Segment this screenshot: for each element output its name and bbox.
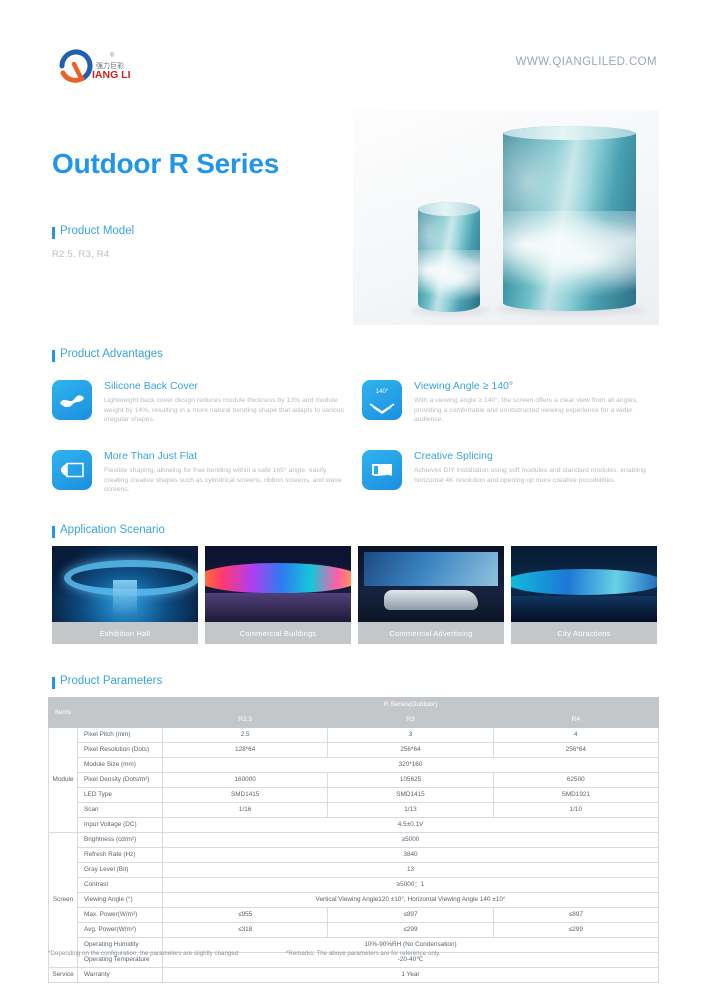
scenario-commercial-buildings: Commercial Buildings <box>205 546 351 644</box>
advantage-title: Viewing Angle ≥ 140° <box>414 380 662 393</box>
qiangli-logo: 强力巨彩 IANG LI ® <box>52 48 172 84</box>
header-column-r4: R4 <box>493 713 658 728</box>
row-value-r4: 1/10 <box>493 803 658 818</box>
advantage-title: More Than Just Flat <box>104 450 352 463</box>
cylinder-screen-small <box>418 202 480 312</box>
footnote-1: *Depending on the configuration, the par… <box>48 950 238 957</box>
advantage-text: Achieves DIY installation using soft mod… <box>414 466 662 485</box>
flexible-panel-icon <box>52 450 92 490</box>
table-row: Contrast≥5000：1 <box>49 878 659 893</box>
scenario-caption: City Attractions <box>511 622 657 644</box>
section-heading-application-scenario: Application Scenario <box>52 524 165 536</box>
row-value-all: 4.5±0.1V <box>163 818 659 833</box>
advantage-more-than-just-flat: More Than Just Flat Flexible shaping, al… <box>52 450 352 495</box>
row-label: Max. Power(W/m²) <box>78 908 163 923</box>
page-header: 强力巨彩 IANG LI ® WWW.QIANGLILED.COM <box>0 0 707 110</box>
header-column-r2-5: R2.5 <box>163 713 328 728</box>
row-value-r2-5: ≤318 <box>163 923 328 938</box>
row-label: Refresh Rate (Hz) <box>78 848 163 863</box>
row-value-r3: SMD1415 <box>328 788 493 803</box>
row-value-r4: 62500 <box>493 773 658 788</box>
table-header-row: ItemsR Series(Outdoor) <box>49 698 659 713</box>
row-group-module: Module <box>49 728 78 833</box>
row-label: Brightness (cd/m²) <box>78 833 163 848</box>
section-heading-product-advantages: Product Advantages <box>52 348 163 360</box>
scenario-commercial-advertising: Commercial Advertising <box>358 546 504 644</box>
row-label: Pixel Density (Dots/m²) <box>78 773 163 788</box>
row-label: Avg. Power(W/m²) <box>78 923 163 938</box>
row-value-all: 13 <box>163 863 659 878</box>
table-row: ServiceWarranty1 Year <box>49 968 659 983</box>
table-row: Input Voltage (DC)4.5±0.1V <box>49 818 659 833</box>
advantage-title: Creative Splicing <box>414 450 662 463</box>
scenario-caption: Exhibition Hall <box>52 622 198 644</box>
scenario-city-attractions: City Attractions <box>511 546 657 644</box>
advantage-text: Flexible shaping, allowing for free bend… <box>104 466 352 495</box>
row-value-r2-5: 2.5 <box>163 728 328 743</box>
table-row: Avg. Power(W/m²)≤318≤299≤299 <box>49 923 659 938</box>
row-value-r2-5: SMD1415 <box>163 788 328 803</box>
row-label: LED Type <box>78 788 163 803</box>
product-model-value: R2.5, R3, R4 <box>52 249 109 260</box>
row-value-r2-5: 160000 <box>163 773 328 788</box>
row-value-r3: ≤299 <box>328 923 493 938</box>
row-label: Contrast <box>78 878 163 893</box>
row-value-r4: ≤897 <box>493 908 658 923</box>
row-value-r3: 105625 <box>328 773 493 788</box>
advantage-silicone-back-cover: Silicone Back Cover Lightweight back cov… <box>52 380 352 425</box>
row-label: Input Voltage (DC) <box>78 818 163 833</box>
row-value-r3: 256*64 <box>328 743 493 758</box>
datasheet-page: 强力巨彩 IANG LI ® WWW.QIANGLILED.COM Outdoo… <box>0 0 707 999</box>
row-value-r3: ≤897 <box>328 908 493 923</box>
row-value-r2-5: ≤955 <box>163 908 328 923</box>
scenario-image <box>511 546 657 622</box>
header-series: R Series(Outdoor) <box>163 698 659 713</box>
table-row: LED TypeSMD1415SMD1415SMD1921 <box>49 788 659 803</box>
scenario-image <box>358 546 504 622</box>
viewing-angle-badge: 140° <box>376 389 388 395</box>
row-label: Gray Level (Bit) <box>78 863 163 878</box>
site-url: WWW.QIANGLILED.COM <box>516 56 657 68</box>
row-label: Viewing Angle (°) <box>78 893 163 908</box>
svg-text:IANG LI: IANG LI <box>92 69 131 81</box>
table-row: ModulePixel Pitch (mm)2.534 <box>49 728 659 743</box>
row-group-service: Service <box>49 968 78 983</box>
row-value-r4: 4 <box>493 728 658 743</box>
table-row: Pixel Resolution (Dots)128*64256*64256*6… <box>49 743 659 758</box>
table-row: Module Size (mm)320*160 <box>49 758 659 773</box>
advantage-viewing-angle: 140° Viewing Angle ≥ 140° With a viewing… <box>362 380 662 425</box>
row-value-all: ≥5000：1 <box>163 878 659 893</box>
scenario-caption: Commercial Advertising <box>358 622 504 644</box>
page-title: Outdoor R Series <box>52 148 279 180</box>
row-label: Scan <box>78 803 163 818</box>
advantage-text: Lightweight back cover design reduces mo… <box>104 396 352 425</box>
hero-product-image <box>353 110 659 325</box>
table-row: Viewing Angle (°)Vertical Viewing Angle1… <box>49 893 659 908</box>
viewing-angle-icon: 140° <box>362 380 402 420</box>
advantage-title: Silicone Back Cover <box>104 380 352 393</box>
scenario-image <box>205 546 351 622</box>
silicone-wave-icon <box>52 380 92 420</box>
row-value-all: ≥5000 <box>163 833 659 848</box>
row-value-r2-5: 128*64 <box>163 743 328 758</box>
advantage-creative-splicing: Creative Splicing Achieves DIY installat… <box>362 450 662 485</box>
parameters-table-body: ItemsR Series(Outdoor)R2.5R3R4ModulePixe… <box>49 698 659 983</box>
row-value-r3: 1/13 <box>328 803 493 818</box>
header-items: Items <box>49 698 163 728</box>
table-row: Scan1/161/131/10 <box>49 803 659 818</box>
section-heading-product-parameters: Product Parameters <box>52 675 162 687</box>
row-value-all: 3840 <box>163 848 659 863</box>
scenario-caption: Commercial Buildings <box>205 622 351 644</box>
product-parameters-table: ItemsR Series(Outdoor)R2.5R3R4ModulePixe… <box>48 697 659 983</box>
scenario-image <box>52 546 198 622</box>
row-value-r4: ≤299 <box>493 923 658 938</box>
row-label: Pixel Resolution (Dots) <box>78 743 163 758</box>
advantage-text: With a viewing angle ≥ 140°, the screen … <box>414 396 662 425</box>
row-value-r4: 256*64 <box>493 743 658 758</box>
table-row: Pixel Density (Dots/m²)16000010562562500 <box>49 773 659 788</box>
table-row: Refresh Rate (Hz)3840 <box>49 848 659 863</box>
row-label: Warranty <box>78 968 163 983</box>
row-value-all: 1 Year <box>163 968 659 983</box>
scenario-exhibition-hall: Exhibition Hall <box>52 546 198 644</box>
row-value-r3: 3 <box>328 728 493 743</box>
row-label: Pixel Pitch (mm) <box>78 728 163 743</box>
table-row: ScreenBrightness (cd/m²)≥5000 <box>49 833 659 848</box>
footnote-2: *Remarks: The above parameters are for r… <box>286 950 441 957</box>
svg-text:®: ® <box>110 52 115 59</box>
section-heading-product-model: Product Model <box>52 225 134 237</box>
cylinder-screen-large <box>503 126 636 311</box>
row-value-all: 320*160 <box>163 758 659 773</box>
row-label: Module Size (mm) <box>78 758 163 773</box>
row-value-r2-5: 1/16 <box>163 803 328 818</box>
creative-splicing-icon <box>362 450 402 490</box>
table-footnotes: *Depending on the configuration, the par… <box>48 950 659 957</box>
header-column-r3: R3 <box>328 713 493 728</box>
row-group-screen: Screen <box>49 833 78 968</box>
table-row: Gray Level (Bit)13 <box>49 863 659 878</box>
row-value-r4: SMD1921 <box>493 788 658 803</box>
row-value-all: Vertical Viewing Angle120 ±10°, Horizont… <box>163 893 659 908</box>
table-row: Max. Power(W/m²)≤955≤897≤897 <box>49 908 659 923</box>
